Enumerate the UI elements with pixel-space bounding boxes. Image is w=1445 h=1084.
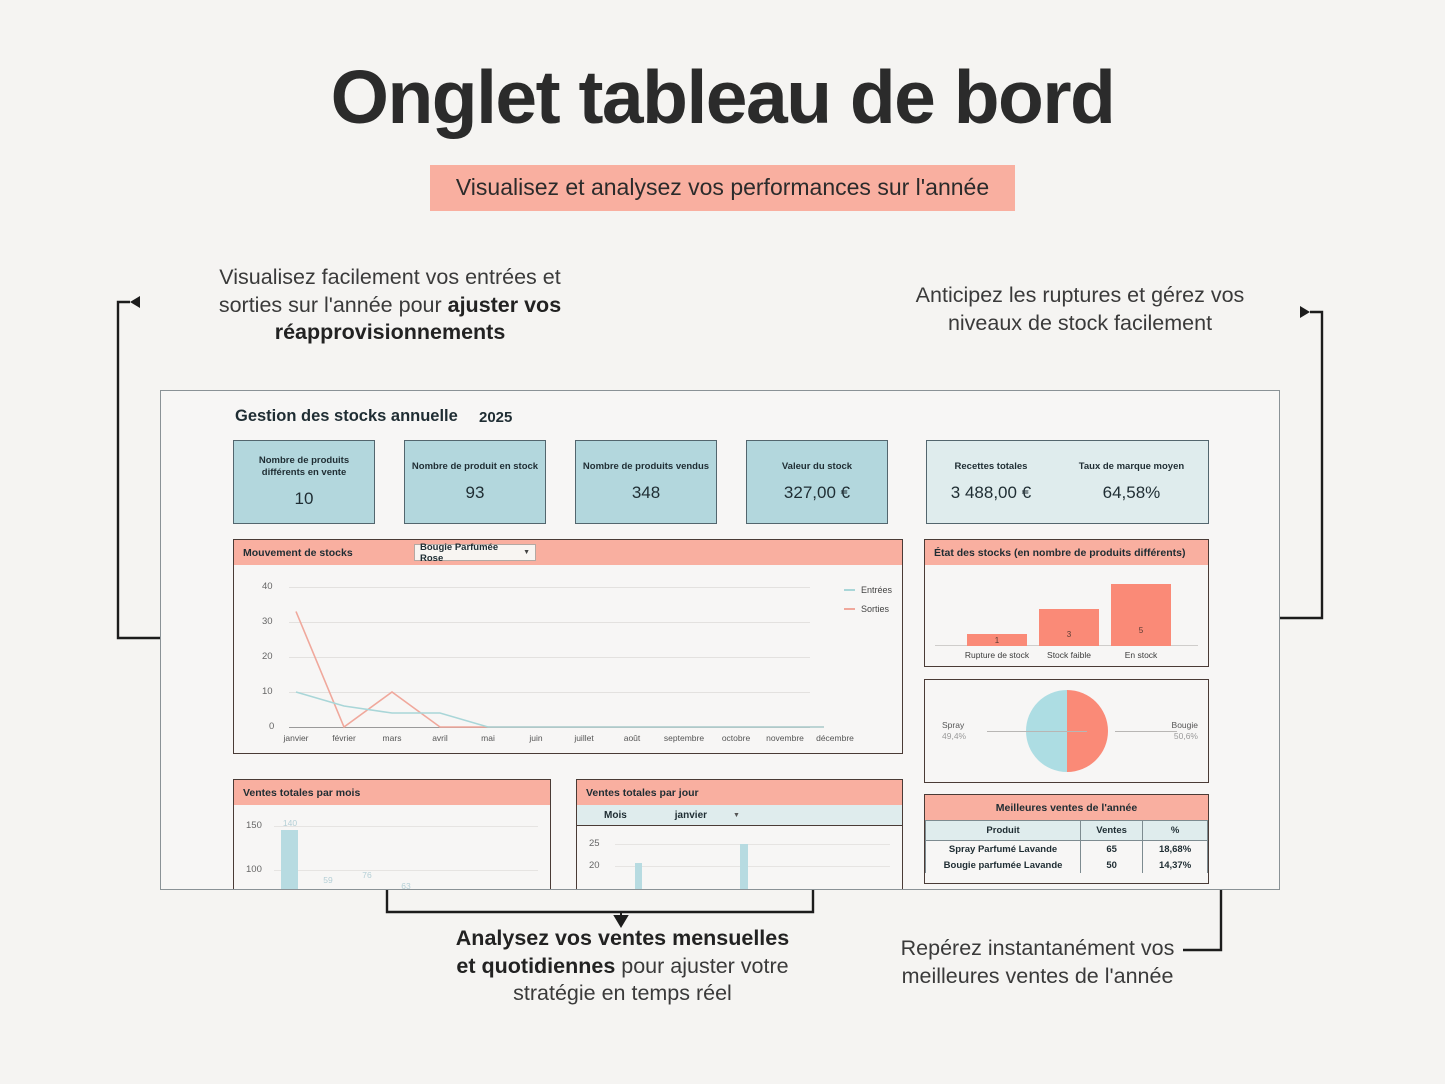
panel-header-mouvement: Mouvement de stocks Bougie Parfumée Rose…: [234, 540, 902, 565]
line-chart-mouvement: 40 30 20 10 0 janvier février mars avril…: [234, 565, 902, 753]
annotation-tl-bold2: réapprovisionnements: [275, 320, 506, 344]
column-header-ventes: Ventes: [1081, 821, 1143, 841]
gridline: [615, 866, 890, 867]
kpi-label: Nombre de produits différents en vente: [234, 455, 374, 479]
kpi-value: 348: [632, 483, 660, 503]
annotation-br-line1: Repérez instantanément vos: [901, 936, 1175, 960]
pie-label-percent: 50,6%: [1172, 731, 1198, 742]
cell-pourcent: 18,68%: [1143, 841, 1208, 858]
annotation-top-right: Anticipez les ruptures et gérez vos nive…: [880, 282, 1280, 337]
bar-value-fevrier: 59: [323, 875, 332, 885]
kpi-card-produits-vendus[interactable]: Nombre de produits vendus 348: [575, 440, 717, 524]
panel-mouvement-de-stocks: Mouvement de stocks Bougie Parfumée Rose…: [233, 539, 903, 754]
annotation-tl-bold1: ajuster vos: [448, 293, 562, 317]
y-tick-25: 25: [589, 838, 600, 849]
kpi-card-produits-differents[interactable]: Nombre de produits différents en vente 1…: [233, 440, 375, 524]
bar-value-avril: 63: [401, 881, 410, 890]
panel-header-etat: État des stocks (en nombre de produits d…: [925, 540, 1208, 565]
kpi-card-recettes-marge[interactable]: Recettes totales 3 488,00 € Taux de marq…: [926, 440, 1209, 524]
bar-value-1: 1: [995, 636, 999, 645]
pie-label-name: Bougie: [1172, 720, 1198, 731]
series-entrees-line: [296, 692, 824, 727]
panel-header-ventes-mois: Ventes totales par mois: [234, 780, 550, 805]
series-sorties-line: [296, 612, 824, 728]
panel-title: Ventes totales par jour: [586, 787, 699, 799]
dashboard-frame: Gestion des stocks annuelle 2025 Nombre …: [160, 390, 1280, 890]
dashboard-year: 2025: [479, 409, 512, 426]
panel-etat-des-stocks: État des stocks (en nombre de produits d…: [924, 539, 1209, 667]
legend-swatch-icon: [844, 589, 855, 592]
chart-legend: Entrées Sorties: [844, 585, 892, 623]
table-row[interactable]: Bougie parfumée Lavande 50 14,37%: [926, 857, 1208, 873]
panel-title: Meilleures ventes de l'année: [996, 802, 1137, 814]
kpi-value: 64,58%: [1103, 483, 1161, 503]
page-title: Onglet tableau de bord: [0, 58, 1445, 137]
x-label-decembre: décembre: [816, 733, 854, 743]
bar-label-rupture: Rupture de stock: [965, 650, 1029, 660]
column-header-produit: Produit: [926, 821, 1081, 841]
table-header-row: Produit Ventes %: [926, 821, 1208, 841]
kpi-value: 3 488,00 €: [951, 483, 1031, 503]
annotation-bottom-right: Repérez instantanément vos meilleures ve…: [865, 935, 1210, 990]
panel-meilleures-ventes: Meilleures ventes de l'année Produit Ven…: [924, 794, 1209, 884]
chevron-down-icon: ▼: [733, 812, 740, 819]
x-label-mai: mai: [481, 733, 495, 743]
y-tick-20: 20: [589, 860, 600, 871]
legend-swatch-icon: [844, 608, 855, 611]
kpi-card-valeur-du-stock[interactable]: Valeur du stock 327,00 €: [746, 440, 888, 524]
bar-chart-ventes-mois: 150 100 140 59 76 63: [234, 805, 550, 890]
kpi-card-produit-en-stock[interactable]: Nombre de produit en stock 93: [404, 440, 546, 524]
subtitle-wrapper: Visualisez et analysez vos performances …: [0, 165, 1445, 211]
kpi-value: 93: [466, 483, 485, 503]
x-label-septembre: septembre: [664, 733, 704, 743]
legend-label: Sorties: [861, 604, 889, 614]
annotation-bottom-left: Analysez vos ventes mensuelles et quotid…: [410, 925, 835, 1008]
y-tick-100: 100: [246, 864, 262, 875]
pie-label-bougie: Bougie 50,6%: [1172, 720, 1198, 742]
x-label-avril: avril: [432, 733, 448, 743]
legend-label: Entrées: [861, 585, 892, 595]
x-label-novembre: novembre: [766, 733, 804, 743]
cell-ventes: 50: [1081, 857, 1143, 873]
kpi-value: 10: [295, 489, 314, 509]
gridline: [274, 826, 538, 827]
bar-day-2: [740, 844, 748, 890]
pie-leader-line-right: [1115, 731, 1177, 732]
panel-header-meilleures-ventes: Meilleures ventes de l'année: [925, 795, 1208, 820]
kpi-label: Nombre de produit en stock: [406, 461, 544, 473]
annotation-tl-line2: sorties sur l'année pour: [219, 293, 448, 317]
kpi-row: Nombre de produits différents en vente 1…: [233, 440, 888, 524]
x-label-octobre: octobre: [722, 733, 750, 743]
bar-label-en-stock: En stock: [1125, 650, 1158, 660]
x-label-juin: juin: [529, 733, 542, 743]
table-row[interactable]: Spray Parfumé Lavande 65 18,68%: [926, 841, 1208, 858]
kpi-label: Recettes totales: [955, 461, 1028, 472]
annotation-tr-line2: niveaux de stock facilement: [948, 311, 1212, 335]
dashboard-title: Gestion des stocks annuelle: [235, 407, 458, 426]
panel-title: État des stocks (en nombre de produits d…: [934, 547, 1185, 559]
panel-title: Mouvement de stocks: [243, 547, 353, 559]
bar-stock-faible: [1039, 609, 1099, 646]
bar-label-stock-faible: Stock faible: [1047, 650, 1091, 660]
line-series-svg: [234, 565, 904, 753]
bar-janvier: [281, 830, 298, 890]
x-label-aout: août: [624, 733, 641, 743]
x-label-janvier: janvier: [283, 733, 308, 743]
panel-header-ventes-jour: Ventes totales par jour: [577, 780, 902, 805]
y-tick-150: 150: [246, 820, 262, 831]
cell-ventes: 65: [1081, 841, 1143, 858]
gridline: [274, 870, 538, 871]
pie-label-spray: Spray 49,4%: [942, 720, 966, 742]
dropdown-value: Bougie Parfumée Rose: [420, 542, 523, 564]
x-label-juillet: juillet: [574, 733, 593, 743]
cell-produit: Bougie parfumée Lavande: [926, 857, 1081, 873]
legend-item-sorties: Sorties: [844, 604, 892, 614]
cell-pourcent: 14,37%: [1143, 857, 1208, 873]
pie-label-name: Spray: [942, 720, 966, 731]
annotation-top-left: Visualisez facilement vos entrées et sor…: [190, 264, 590, 347]
filter-value-month: janvier: [675, 810, 707, 821]
month-filter-bar[interactable]: Mois janvier ▼: [577, 805, 902, 826]
bar-day-1: [635, 863, 642, 890]
pie-leader-line-left: [987, 731, 1087, 732]
panel-ventes-totales-par-jour: Ventes totales par jour Mois janvier ▼ 2…: [576, 779, 903, 890]
gridline: [615, 844, 890, 845]
page-subtitle: Visualisez et analysez vos performances …: [430, 165, 1015, 211]
annotation-bl-bold1: Analysez vos ventes mensuelles: [456, 926, 789, 950]
x-label-fevrier: février: [332, 733, 356, 743]
x-label-mars: mars: [383, 733, 402, 743]
bar-value-mars: 76: [362, 870, 371, 880]
panel-repartition-produits: Spray 49,4% Bougie 50,6%: [924, 679, 1209, 783]
panel-ventes-totales-par-mois: Ventes totales par mois 150 100 140 59 7…: [233, 779, 551, 890]
legend-item-entrees: Entrées: [844, 585, 892, 595]
bar-value-janvier: 140: [283, 818, 297, 828]
annotation-tl-line1: Visualisez facilement vos entrées et: [219, 265, 560, 289]
column-header-pourcent: %: [1143, 821, 1208, 841]
annotation-tr-line1: Anticipez les ruptures et gérez vos: [916, 283, 1245, 307]
bar-en-stock: [1111, 584, 1171, 646]
annotation-bl-line3: stratégie en temps réel: [513, 981, 732, 1005]
filter-label-mois: Mois: [604, 810, 627, 821]
product-select-dropdown[interactable]: Bougie Parfumée Rose ▼: [414, 544, 536, 561]
kpi-value: 327,00 €: [784, 483, 850, 503]
cell-produit: Spray Parfumé Lavande: [926, 841, 1081, 858]
kpi-label: Taux de marque moyen: [1079, 461, 1184, 472]
kpi-label: Valeur du stock: [776, 461, 858, 473]
chevron-down-icon: ▼: [523, 549, 530, 556]
annotation-bl-bold2: et quotidiennes: [456, 954, 615, 978]
kpi-taux-de-marque: Taux de marque moyen 64,58%: [1079, 461, 1184, 503]
poster-root: Onglet tableau de bord Visualisez et ana…: [0, 0, 1445, 1084]
annotation-br-line2: meilleures ventes de l'année: [902, 964, 1174, 988]
panel-title: Ventes totales par mois: [243, 787, 360, 799]
bar-chart-etat-des-stocks: 1 3 5 Rupture de stock Stock faible En s…: [925, 565, 1208, 665]
best-sellers-table: Produit Ventes % Spray Parfumé Lavande 6…: [925, 820, 1208, 873]
annotation-bl-rest: pour ajuster votre: [615, 954, 788, 978]
bar-chart-ventes-jour: 25 20: [577, 826, 902, 890]
kpi-recettes-totales: Recettes totales 3 488,00 €: [951, 461, 1031, 503]
pie-label-percent: 49,4%: [942, 731, 966, 742]
kpi-label: Nombre de produits vendus: [577, 461, 715, 473]
bar-value-5: 5: [1139, 626, 1143, 635]
bar-value-3: 3: [1067, 630, 1071, 639]
